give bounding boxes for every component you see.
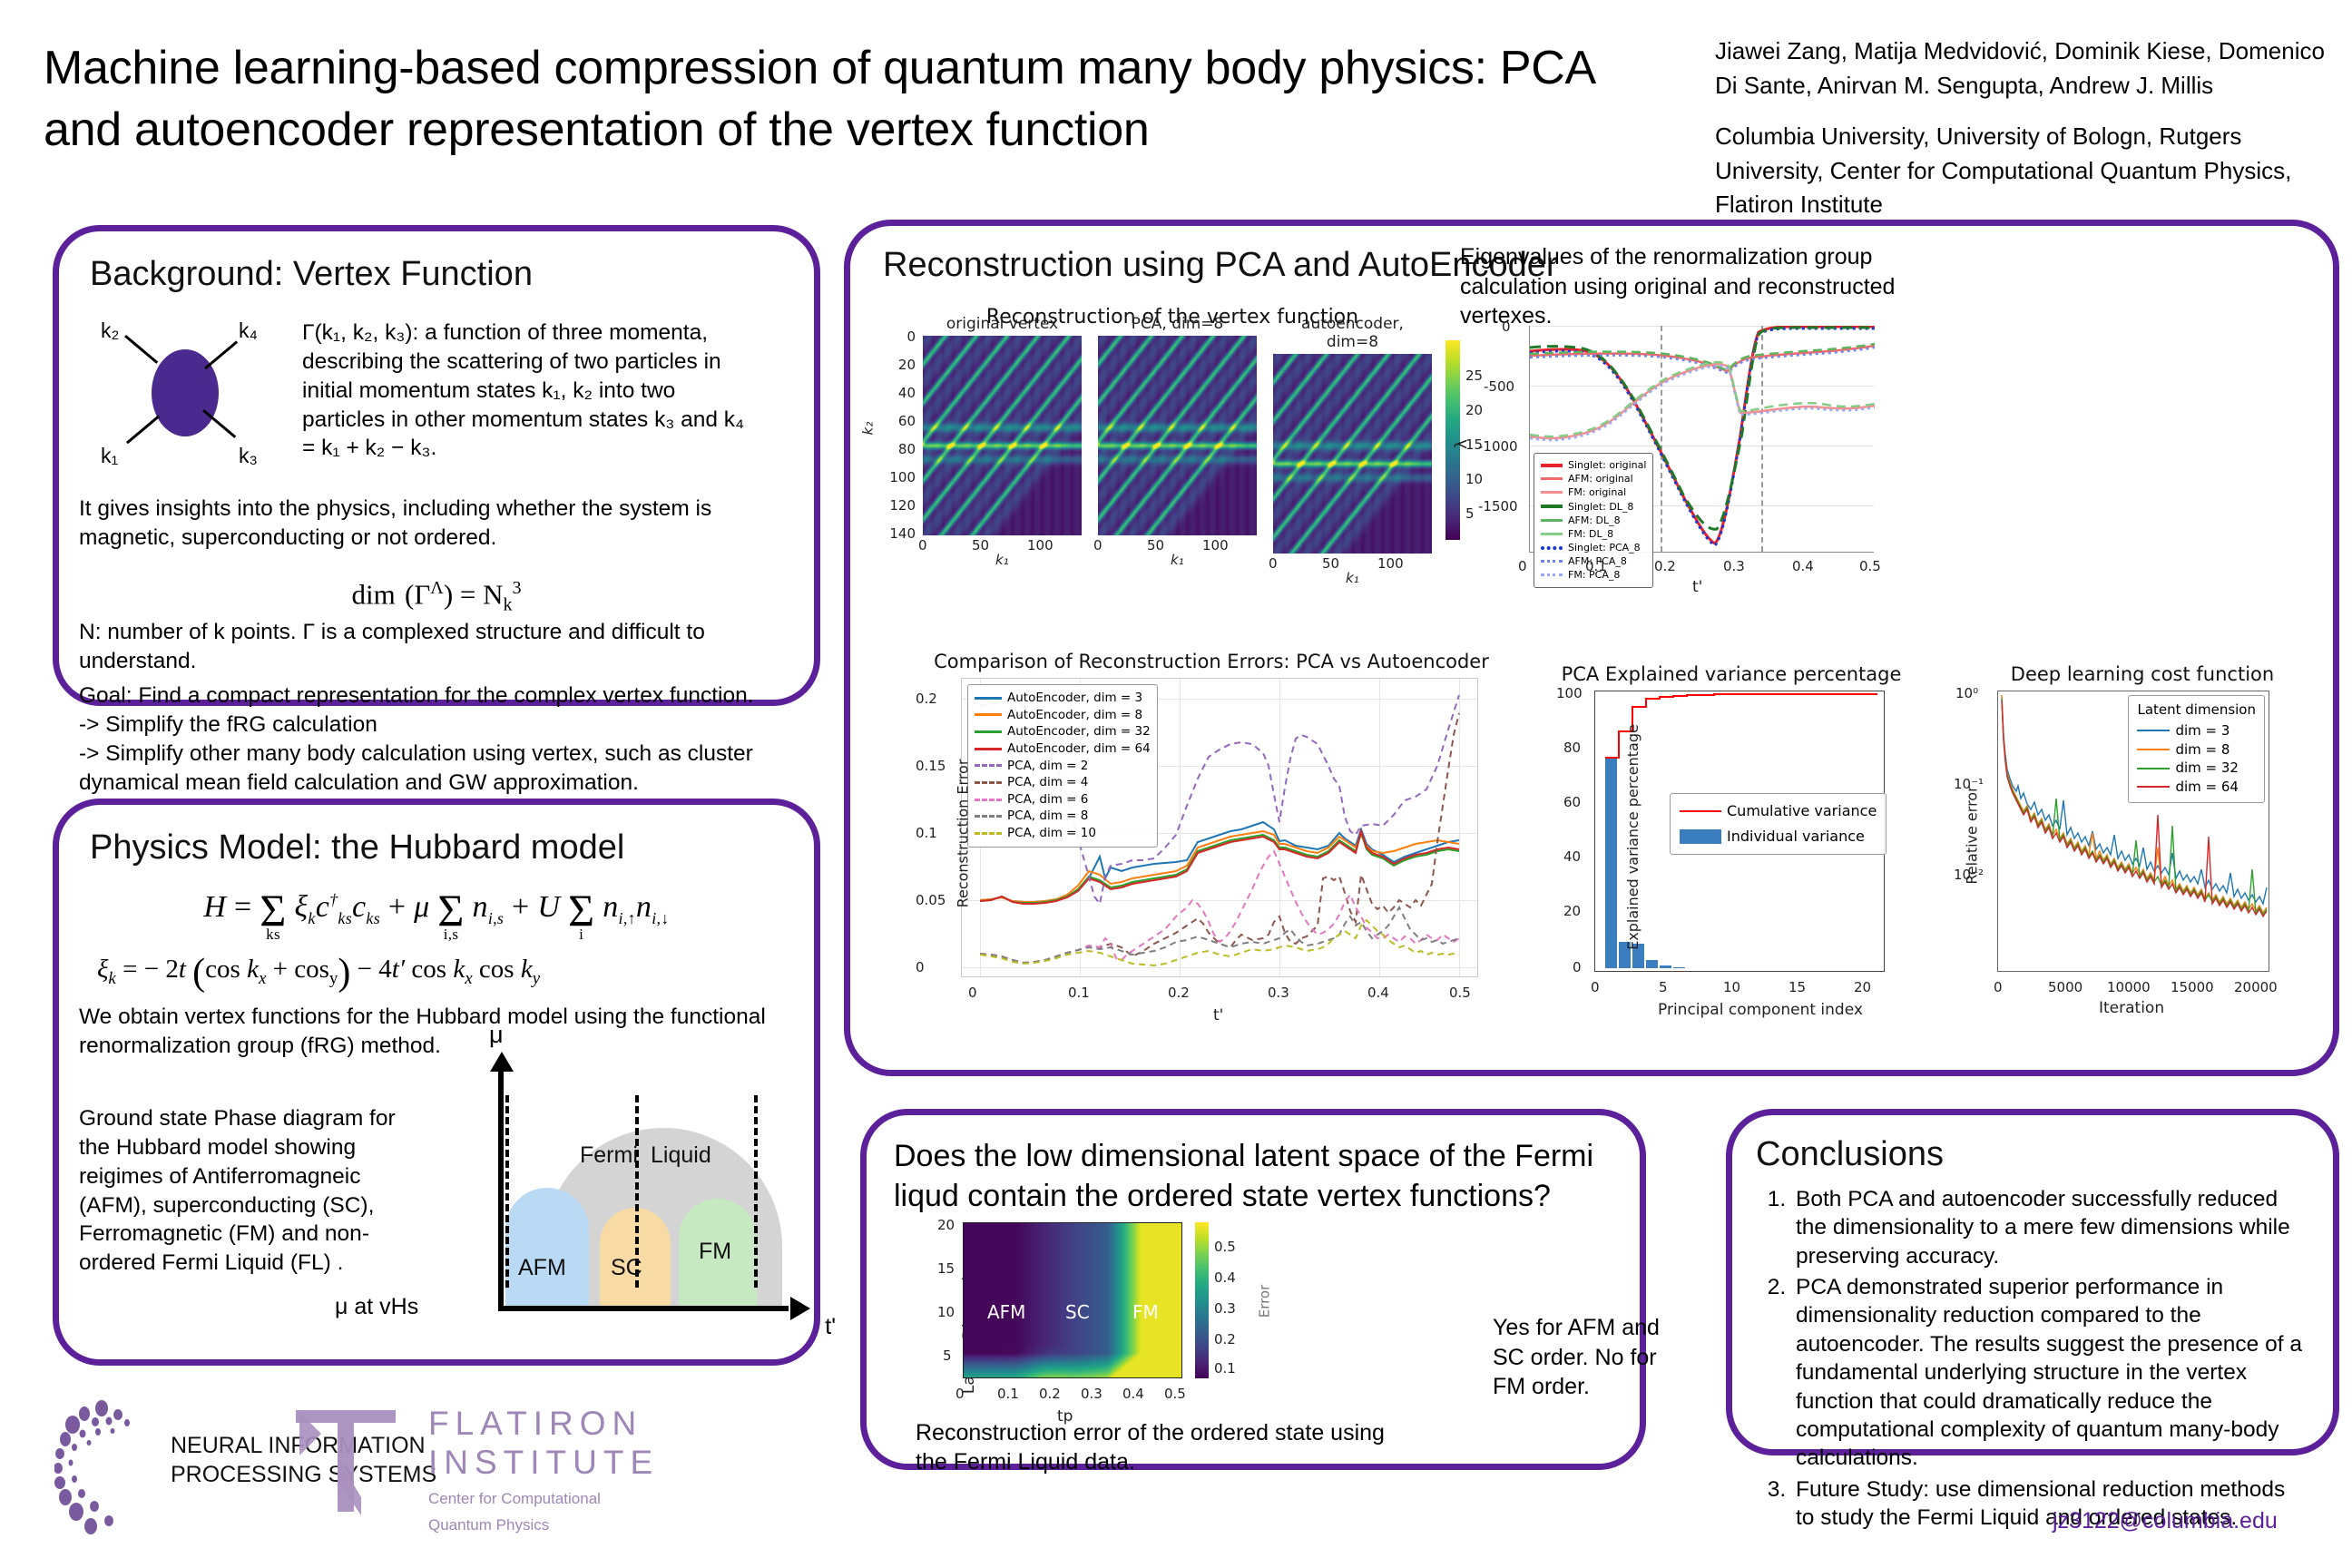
dl-cost-legend: Latent dimension dim = 3 dim = 8 dim = 3… — [2128, 695, 2265, 803]
lat-ytick-10: 10 — [937, 1304, 955, 1320]
re-legend-item-6: PCA, dim = 6 — [975, 791, 1151, 808]
vertex-definition-text: Γ(k₁, k₂, k₃): a function of three momen… — [302, 318, 756, 463]
re-xtick-4: 0.4 — [1367, 985, 1389, 1001]
eigen-legend-label-3: Singlet: DL_8 — [1568, 500, 1633, 514]
flatiron-line-2: INSTITUTE — [428, 1444, 659, 1483]
cbar-tick-20: 20 — [1465, 402, 1483, 418]
eigen-xtick-4: 0.4 — [1792, 558, 1814, 574]
phase-region-afm — [505, 1188, 589, 1306]
cbar-tick-5: 5 — [1465, 505, 1475, 522]
chart-reconstruction-errors: Comparison of Reconstruction Errors: PCA… — [877, 651, 1513, 1032]
dl-legend-label-0: dim = 3 — [2175, 721, 2229, 740]
re-legend-label-8: PCA, dim = 10 — [1007, 825, 1096, 842]
eigen-ytick-0: 0 — [1502, 318, 1511, 335]
heatmap-ae-x-axis: 0 50 100 k₁ — [1273, 554, 1432, 584]
heatmap-pca-title: PCA, dim=8 — [1098, 315, 1257, 333]
phase-dashed-line-3 — [754, 1095, 758, 1288]
re-legend-label-5: PCA, dim = 4 — [1007, 774, 1088, 791]
recon-heading: Reconstruction using PCA and AutoEncoder — [883, 246, 1558, 285]
re-legend-label-3: AutoEncoder, dim = 64 — [1007, 740, 1151, 758]
re-ytick-0.15: 0.15 — [916, 758, 946, 774]
pv-y-axis-label: Explained variance percentage — [1624, 724, 1641, 950]
lat-cbar-0.3: 0.3 — [1214, 1300, 1236, 1317]
contact-email[interactable]: jz3122@columbia.edu — [2053, 1508, 2278, 1534]
hm2-xtick-0: 0 — [1093, 537, 1102, 554]
heatmap-ytick-0: 0 — [906, 328, 916, 345]
eigen-legend-swatch-1 — [1541, 477, 1563, 480]
flatiron-wordmark: FLATIRON INSTITUTE Center for Computatio… — [428, 1405, 659, 1536]
hm2-xtick-100: 100 — [1202, 537, 1229, 554]
phase-x-axis — [498, 1306, 789, 1311]
affiliation-list: Columbia University, University of Bolog… — [1715, 120, 2350, 222]
eigen-legend-swatch-0 — [1541, 464, 1563, 467]
phase-label-fermi: Fermi — [580, 1142, 638, 1169]
pv-xtick-20: 20 — [1854, 979, 1871, 995]
pv-xtick-15: 15 — [1788, 979, 1806, 995]
panel-conclusions: Conclusions Both PCA and autoencoder suc… — [1726, 1109, 2339, 1455]
pca-var-legend-label-cumulative: Cumulative variance — [1727, 801, 1877, 821]
phase-label-afm: AFM — [518, 1255, 566, 1281]
cbar-tick-25: 25 — [1465, 367, 1483, 384]
model-heading: Physics Model: the Hubbard model — [90, 828, 783, 867]
lat-cbar-0.4: 0.4 — [1214, 1269, 1236, 1286]
lat-ytick-15: 15 — [937, 1260, 955, 1277]
latent-colorbar: 0.5 0.4 0.3 0.2 0.1 Error — [1195, 1222, 1259, 1378]
eigen-legend-label-5: FM: DL_8 — [1568, 527, 1613, 541]
n-note-text: N: number of k points. Γ is a complexed … — [79, 618, 805, 676]
vertex-label-k4: k₄ — [239, 318, 258, 343]
heatmap-ytick-60: 60 — [898, 413, 916, 429]
heatmap-pca: PCA, dim=8 0 50 100 k₁ — [1098, 315, 1257, 566]
lat-cbar-0.5: 0.5 — [1214, 1239, 1236, 1255]
hm2-xlabel: k₁ — [1171, 552, 1184, 568]
chart-eigenvalues: Singlet: original AFM: original FM: orig… — [1485, 326, 1921, 616]
dl-ytick-0: 10⁰ — [1955, 685, 1978, 701]
eigen-heading: Eigenvalues of the renormalization group… — [1460, 242, 1896, 331]
dl-legend-swatch-2 — [2137, 768, 2170, 769]
phase-label-fm: FM — [699, 1239, 731, 1265]
recon-error-title: Comparison of Reconstruction Errors: PCA… — [910, 651, 1513, 672]
eigen-legend-item-3: Singlet: DL_8 — [1541, 500, 1646, 514]
lat-xtick-1: 0.1 — [997, 1386, 1019, 1402]
re-legend-swatch-2 — [975, 730, 1002, 733]
vertex-label-k3: k₃ — [239, 444, 258, 468]
dl-legend-label-3: dim = 64 — [2175, 778, 2239, 797]
pca-var-bar-6 — [1673, 967, 1685, 968]
dl-xtick-0: 0 — [1994, 979, 2003, 995]
re-legend-label-1: AutoEncoder, dim = 8 — [1007, 707, 1142, 724]
re-legend-swatch-1 — [975, 713, 1002, 716]
heatmap-original-title: original vertex — [923, 315, 1082, 333]
latent-region-label-sc: SC — [1065, 1301, 1090, 1323]
eigen-legend-item-2: FM: original — [1541, 485, 1646, 499]
hm2-xtick-50: 50 — [1147, 537, 1164, 554]
phase-y-axis — [498, 1064, 504, 1311]
eq-dim-label: dim — [351, 578, 395, 610]
pv-xtick-10: 10 — [1723, 979, 1740, 995]
hm3-xtick-0: 0 — [1269, 555, 1278, 572]
eigen-xtick-0: 0 — [1518, 558, 1527, 574]
eigen-y-axis-label: λ — [1452, 439, 1471, 449]
re-legend-label-2: AutoEncoder, dim = 32 — [1007, 723, 1151, 740]
eigen-xtick-1: 0.1 — [1585, 558, 1607, 574]
pca-var-legend-label-individual: Individual variance — [1727, 827, 1865, 847]
heatmap-ytick-80: 80 — [898, 441, 916, 457]
panel-reconstruction: Reconstruction using PCA and AutoEncoder… — [844, 220, 2339, 1076]
lat-xtick-4: 0.4 — [1122, 1386, 1144, 1402]
eigen-legend-swatch-4 — [1541, 519, 1563, 522]
re-legend-item-4: PCA, dim = 2 — [975, 758, 1151, 775]
dl-legend-label-1: dim = 8 — [2175, 740, 2229, 759]
recon-error-legend: AutoEncoder, dim = 3 AutoEncoder, dim = … — [967, 684, 1158, 848]
conclusions-heading: Conclusions — [1756, 1135, 2309, 1174]
re-legend-item-8: PCA, dim = 10 — [975, 825, 1151, 842]
re-y-axis-label: Reconstruction Error — [954, 759, 971, 908]
re-x-axis-label: t' — [1213, 1006, 1223, 1024]
eigen-legend-item-4: AFM: DL_8 — [1541, 514, 1646, 527]
cbar-tick-10: 10 — [1465, 471, 1483, 487]
lat-xtick-2: 0.2 — [1039, 1386, 1061, 1402]
pca-var-legend-item-0: Cumulative variance — [1680, 801, 1877, 821]
re-xtick-5: 0.5 — [1449, 985, 1471, 1001]
re-legend-swatch-5 — [975, 781, 1002, 784]
eigen-ytick-500: -500 — [1484, 378, 1514, 395]
hm1-xtick-100: 100 — [1027, 537, 1053, 554]
neurips-logo-icon — [54, 1397, 163, 1543]
flatiron-logo-icon — [289, 1403, 407, 1521]
pca-var-cumulative-line — [1605, 694, 1877, 758]
heatmap-ytick-20: 20 — [898, 357, 916, 373]
latent-colorbar-label: Error — [1256, 1285, 1272, 1318]
dl-legend-item-2: dim = 32 — [2137, 759, 2256, 778]
dl-legend-swatch-3 — [2137, 786, 2170, 788]
re-legend-swatch-3 — [975, 748, 1002, 750]
page-title: Machine learning-based compression of qu… — [44, 38, 1641, 161]
pv-ytick-60: 60 — [1563, 794, 1581, 810]
re-legend-swatch-4 — [975, 764, 1002, 767]
re-legend-item-0: AutoEncoder, dim = 3 — [975, 690, 1151, 707]
flatiron-sub-1: Center for Computational — [428, 1489, 659, 1509]
dl-xtick-20000: 20000 — [2234, 979, 2278, 995]
pv-xtick-0: 0 — [1591, 979, 1600, 995]
eigen-curve-fm-dl8 — [1530, 362, 1875, 436]
eigen-legend-swatch-7 — [1541, 560, 1563, 563]
conclusion-item-2: PCA demonstrated superior performance in… — [1792, 1273, 2309, 1473]
re-legend-item-5: PCA, dim = 4 — [975, 774, 1151, 791]
re-ytick-0.10: 0.1 — [916, 825, 937, 841]
eq-N-sup: 3 — [513, 578, 522, 598]
re-curve-pca6 — [980, 851, 1459, 963]
dl-legend-swatch-1 — [2137, 749, 2170, 750]
re-legend-item-2: AutoEncoder, dim = 32 — [975, 723, 1151, 740]
chart-latent-error-heatmap: Latent Dimension 20 15 10 5 AFM SC FM 0 … — [912, 1222, 1366, 1440]
pca-var-bar-1 — [1605, 757, 1617, 968]
vertex-diagram: k₂ k₄ k₁ k₃ — [99, 315, 280, 478]
re-ytick-0.05: 0.05 — [916, 892, 946, 908]
phase-label-liquid: Liquid — [651, 1142, 711, 1169]
dl-legend-item-1: dim = 8 — [2137, 740, 2256, 759]
pca-var-legend-swatch-cumulative — [1680, 810, 1721, 812]
heatmap-autoencoder: autoencoder, dim=8 0 50 100 k₁ — [1273, 315, 1432, 584]
dl-xtick-15000: 15000 — [2171, 979, 2214, 995]
re-legend-label-4: PCA, dim = 2 — [1007, 758, 1088, 775]
heatmap-autoencoder-image — [1273, 354, 1432, 554]
chart-dl-cost-function: Deep learning cost function — [1921, 663, 2320, 1026]
latent-heatmap-image: AFM SC FM — [963, 1222, 1182, 1378]
eigen-legend-item-6: Singlet: PCA_8 — [1541, 541, 1646, 554]
footer-logos: NEURAL INFORMATION PROCESSING SYSTEMS FL… — [54, 1388, 835, 1543]
re-xtick-0: 0 — [968, 985, 977, 1001]
phase-y-axis-label: μ — [489, 1021, 504, 1049]
flatiron-sub-2: Quantum Physics — [428, 1515, 659, 1535]
author-list: Jiawei Zang, Matija Medvidović, Dominik … — [1715, 34, 2341, 103]
eigen-legend-swatch-6 — [1541, 546, 1563, 550]
eq-N: N — [483, 578, 503, 610]
eq-gamma: Γ — [414, 578, 430, 610]
dl-legend-item-0: dim = 3 — [2137, 721, 2256, 740]
eigen-legend-label-0: Singlet: original — [1568, 458, 1646, 472]
hm3-xtick-50: 50 — [1322, 555, 1339, 572]
eigen-legend-label-4: AFM: DL_8 — [1568, 514, 1621, 527]
phase-x-axis-label: t' — [825, 1314, 836, 1340]
dimension-equation: dim (ΓΛ) = Nk3 — [59, 578, 814, 616]
dl-xtick-5000: 5000 — [2048, 979, 2082, 995]
re-legend-item-1: AutoEncoder, dim = 8 — [975, 707, 1151, 724]
lat-xtick-3: 0.3 — [1081, 1386, 1102, 1402]
chart-pca-explained-variance: PCA Explained variance percentage — [1522, 663, 1903, 1026]
eigen-plot-area: Singlet: original AFM: original FM: orig… — [1529, 326, 1874, 553]
vertex-label-k1: k₁ — [101, 444, 118, 468]
re-legend-item-7: PCA, dim = 8 — [975, 808, 1151, 825]
hm3-xlabel: k₁ — [1346, 570, 1359, 586]
eq-N-sub: k — [504, 595, 513, 615]
eq-lambda: Λ — [430, 578, 444, 598]
re-legend-label-7: PCA, dim = 8 — [1007, 808, 1088, 825]
question-heading: Does the low dimensional latent space of… — [894, 1137, 1602, 1216]
re-legend-label-6: PCA, dim = 6 — [1007, 791, 1088, 808]
eigen-legend-swatch-3 — [1541, 505, 1563, 508]
heatmap-ytick-100: 100 — [889, 469, 916, 485]
eigen-legend-item-0: Singlet: original — [1541, 458, 1646, 472]
re-legend-swatch-7 — [975, 815, 1002, 818]
pca-var-bar-5 — [1660, 965, 1671, 968]
dl-cost-plot-area: Latent dimension dim = 3 dim = 8 dim = 3… — [1997, 691, 2269, 972]
pca-var-legend-swatch-individual — [1680, 829, 1721, 844]
vertex-leg-k2 — [124, 335, 158, 364]
lat-xtick-5: 0.5 — [1164, 1386, 1186, 1402]
flatiron-line-1: FLATIRON — [428, 1405, 659, 1444]
eq-equals: = — [460, 578, 475, 610]
hamiltonian-equation: H = Σks ξkc†kscks + μ Σi,s ni,s + U Σi n… — [90, 884, 783, 936]
latent-colorbar-gradient — [1195, 1222, 1209, 1378]
heatmap-original-image — [923, 336, 1082, 535]
poster-root: Machine learning-based compression of qu… — [0, 0, 2352, 1568]
re-legend-swatch-6 — [975, 799, 1002, 801]
heatmap-autoencoder-title: autoencoder, dim=8 — [1273, 315, 1432, 351]
eigen-legend-item-5: FM: DL_8 — [1541, 527, 1646, 541]
panel-background-vertex-function: Background: Vertex Function k₂ k₄ k₁ k₃ … — [53, 225, 820, 706]
lat-cbar-0.1: 0.1 — [1214, 1360, 1236, 1377]
pca-var-legend-item-1: Individual variance — [1680, 827, 1877, 847]
heatmap-y-axis-label: k₂ — [859, 422, 876, 436]
re-legend-item-3: AutoEncoder, dim = 64 — [975, 740, 1151, 758]
dl-legend-swatch-0 — [2137, 730, 2170, 731]
phase-dashed-line-1 — [505, 1095, 509, 1288]
eigen-legend-swatch-8 — [1541, 573, 1563, 576]
vertex-leg-k1 — [126, 415, 160, 444]
re-xtick-2: 0.2 — [1168, 985, 1190, 1001]
panel-physics-model: Physics Model: the Hubbard model H = Σks… — [53, 799, 820, 1366]
eigen-x-axis-label: t' — [1692, 578, 1702, 596]
dl-x-axis-label: Iteration — [2099, 999, 2164, 1017]
pv-ytick-40: 40 — [1563, 848, 1581, 865]
lat-xtick-0: 0 — [955, 1386, 965, 1402]
eigen-legend-label-2: FM: original — [1568, 485, 1626, 499]
latent-region-label-fm: FM — [1132, 1301, 1159, 1323]
pv-ytick-80: 80 — [1563, 740, 1581, 756]
eigen-ytick-1500: -1500 — [1478, 498, 1518, 514]
pv-xtick-5: 5 — [1659, 979, 1668, 995]
panel-latent-space-question: Does the low dimensional latent space of… — [860, 1109, 1646, 1470]
re-xtick-1: 0.1 — [1068, 985, 1090, 1001]
eigen-xtick-3: 0.3 — [1723, 558, 1745, 574]
goal-bullet-1: -> Simplify the fRG calculation — [79, 710, 805, 740]
heatmap-pca-image — [1098, 336, 1257, 535]
pv-x-axis-label: Principal component index — [1658, 1001, 1863, 1019]
lat-cbar-0.2: 0.2 — [1214, 1331, 1236, 1347]
re-ytick-0.00: 0 — [916, 959, 925, 975]
conclusions-list: Both PCA and autoencoder successfully re… — [1756, 1185, 2309, 1532]
eigen-ytick-1000: -1000 — [1478, 438, 1518, 455]
heatmap-ytick-120: 120 — [889, 497, 916, 514]
goal-text: Goal: Find a compact representation for … — [79, 681, 805, 710]
vertex-leg-k4 — [204, 340, 238, 369]
recon-error-plot-area: AutoEncoder, dim = 3 AutoEncoder, dim = … — [961, 678, 1478, 977]
chart-vertex-heatmaps: Reconstruction of the vertex function 0 … — [877, 306, 1467, 596]
goal-bullet-2: -> Simplify other many body calculation … — [79, 740, 805, 798]
heatmap-ytick-40: 40 — [898, 385, 916, 401]
eigen-legend-label-6: Singlet: PCA_8 — [1568, 541, 1641, 554]
latent-region-label-afm: AFM — [987, 1301, 1025, 1323]
phase-label-sc: SC — [611, 1255, 642, 1281]
dispersion-equation: ξk = − 2t (cos kx + cosy) − 4t′ cos kx c… — [97, 951, 783, 995]
pv-ytick-0: 0 — [1573, 959, 1582, 975]
background-heading: Background: Vertex Function — [90, 255, 783, 294]
re-ytick-0.20: 0.2 — [916, 691, 937, 707]
pca-var-title: PCA Explained variance percentage — [1560, 663, 1903, 685]
latent-heatmap-caption: Reconstruction error of the ordered stat… — [916, 1418, 1387, 1476]
pv-ytick-20: 20 — [1563, 903, 1581, 919]
heatmap-y-axis: 0 20 40 60 80 100 120 140 k₂ — [877, 337, 919, 536]
re-xtick-3: 0.3 — [1268, 985, 1289, 1001]
heatmap-original: original vertex 0 50 100 k₁ — [923, 315, 1082, 566]
eigen-legend-label-1: AFM: original — [1568, 472, 1633, 485]
dl-legend-label-2: dim = 32 — [2175, 759, 2239, 778]
re-legend-label-0: AutoEncoder, dim = 3 — [1007, 690, 1142, 707]
lat-ytick-20: 20 — [937, 1217, 955, 1233]
phase-x-axis-arrow-icon — [790, 1297, 810, 1320]
hm1-xlabel: k₁ — [995, 552, 1009, 568]
re-legend-swatch-8 — [975, 832, 1002, 835]
eigen-legend-swatch-5 — [1541, 533, 1563, 535]
question-answer-text: Yes for AFM and SC order. No for FM orde… — [1493, 1313, 1665, 1402]
vertex-label-k2: k₂ — [101, 318, 119, 343]
heatmap-original-x-axis: 0 50 100 k₁ — [923, 535, 1082, 566]
phase-origin-label: μ at vHs — [335, 1294, 418, 1320]
dl-cost-legend-title: Latent dimension — [2137, 701, 2256, 718]
dl-legend-item-3: dim = 64 — [2137, 778, 2256, 797]
hm3-xtick-100: 100 — [1377, 555, 1404, 572]
eigen-legend-swatch-2 — [1541, 491, 1563, 494]
eigen-xtick-2: 0.2 — [1654, 558, 1676, 574]
heatmap-ytick-140: 140 — [889, 525, 916, 542]
lat-ytick-5: 5 — [943, 1347, 952, 1364]
conclusion-item-1: Both PCA and autoencoder successfully re… — [1792, 1185, 2309, 1270]
re-legend-swatch-0 — [975, 697, 1002, 700]
hm1-xtick-0: 0 — [918, 537, 927, 554]
phase-diagram-caption: Ground state Phase diagram for the Hubba… — [79, 1104, 415, 1278]
eigen-curve-fm-original — [1530, 364, 1875, 438]
dl-xtick-10000: 10000 — [2107, 979, 2151, 995]
pca-var-legend: Cumulative variance Individual variance — [1670, 793, 1886, 855]
pv-ytick-100: 100 — [1556, 685, 1583, 701]
eigen-legend-item-1: AFM: original — [1541, 472, 1646, 485]
heatmap-pca-x-axis: 0 50 100 k₁ — [1098, 535, 1257, 566]
vertex-insight-text: It gives insights into the physics, incl… — [79, 495, 796, 553]
dl-y-axis-label: Relative error — [1964, 786, 1981, 884]
dl-cost-title: Deep learning cost function — [1965, 663, 2320, 685]
eigen-xtick-5: 0.5 — [1859, 558, 1881, 574]
pca-var-bar-4 — [1646, 960, 1658, 968]
hm1-xtick-50: 50 — [972, 537, 989, 554]
phase-diagram-chart: μ t' μ at vHs Fermi Liquid AFM SC FM — [449, 1052, 812, 1342]
